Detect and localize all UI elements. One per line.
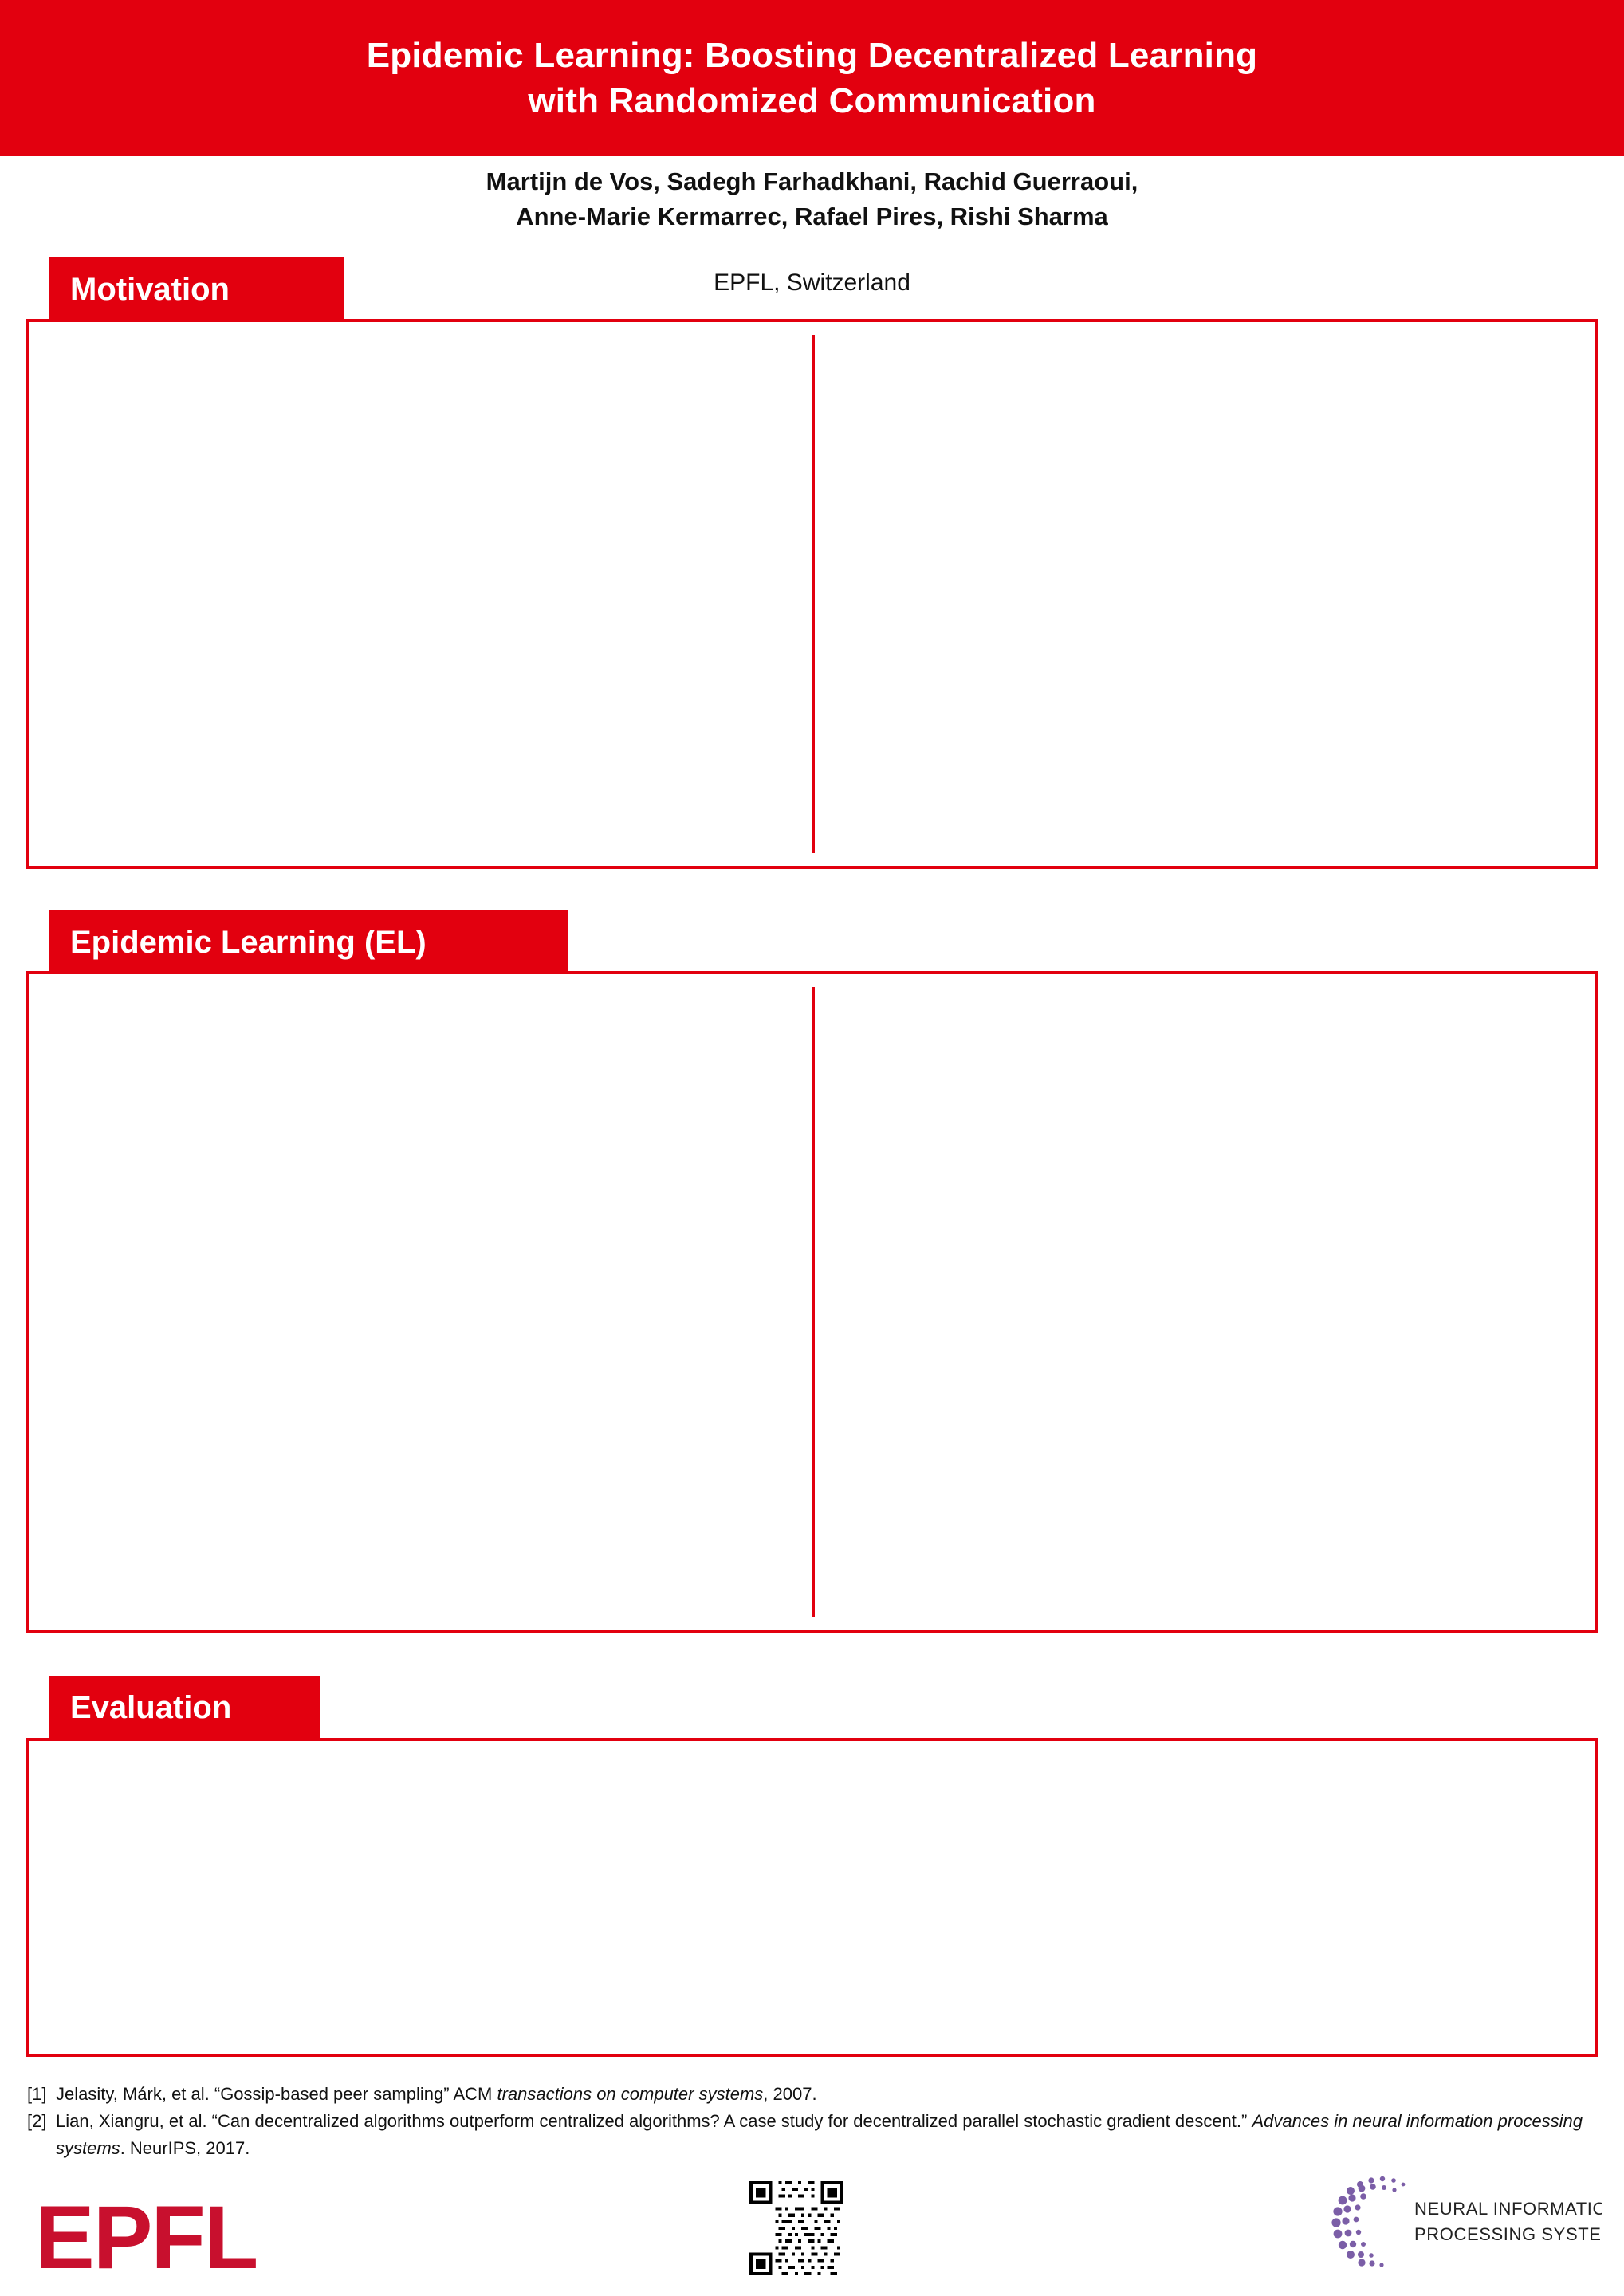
neurips-line-2: PROCESSING SYSTEMS [1414,2224,1602,2244]
author-list: Martijn de Vos, Sadegh Farhadkhani, Rach… [0,164,1624,234]
evaluation-section-tab: Evaluation [49,1676,320,1740]
evaluation-tab-label: Evaluation [70,1690,231,1726]
motivation-section-tab: Motivation [49,257,344,322]
poster-title-band: Epidemic Learning: Boosting Decentralize… [0,0,1624,156]
el-column-divider [812,987,815,1617]
authors-line-1: Martijn de Vos, Sadegh Farhadkhani, Rach… [486,167,1138,195]
neurips-dots [1331,2176,1405,2267]
epidemic-learning-tab-label: Epidemic Learning (EL) [70,925,427,961]
reference-key: [1] [27,2081,56,2108]
epidemic-learning-section-tab: Epidemic Learning (EL) [49,910,568,974]
neurips-line-1: NEURAL INFORMATION [1414,2199,1602,2219]
title-line-1: Epidemic Learning: Boosting Decentralize… [367,36,1258,75]
reference-text: Lian, Xiangru, et al. “Can decentralized… [56,2108,1590,2162]
reference-item: [2] Lian, Xiangru, et al. “Can decentral… [27,2108,1590,2162]
references-block: [1] Jelasity, Márk, et al. “Gossip-based… [27,2081,1590,2162]
poster-root: Epidemic Learning: Boosting Decentralize… [0,0,1624,2296]
authors-line-2: Anne-Marie Kermarrec, Rafael Pires, Rish… [516,202,1108,230]
poster-title: Epidemic Learning: Boosting Decentralize… [367,33,1258,124]
reference-item: [1] Jelasity, Márk, et al. “Gossip-based… [27,2081,1590,2108]
motivation-tab-label: Motivation [70,272,230,308]
motivation-column-divider [812,335,815,853]
reference-text: Jelasity, Márk, et al. “Gossip-based pee… [56,2081,817,2108]
evaluation-box [26,1738,1598,2057]
reference-key: [2] [27,2108,56,2162]
qr-code[interactable] [749,2181,843,2275]
epfl-logo: EPFL [35,2186,257,2289]
title-line-2: with Randomized Communication [528,81,1095,120]
neurips-logo: NEURAL INFORMATION PROCESSING SYSTEMS [1323,2173,1602,2278]
